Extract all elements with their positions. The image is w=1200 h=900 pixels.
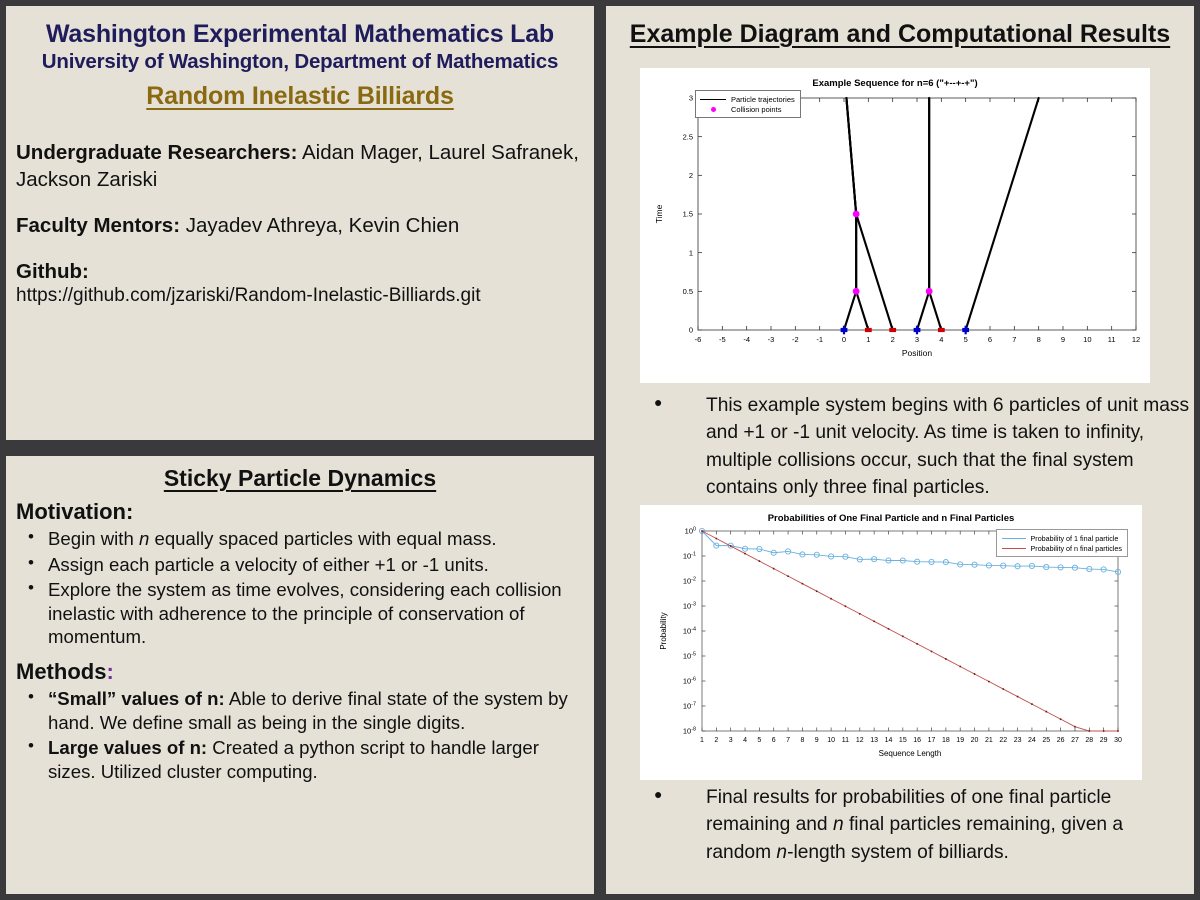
svg-text:10-5: 10-5 [683,651,696,660]
svg-text:1.5: 1.5 [683,210,693,219]
svg-text:2: 2 [689,171,693,180]
svg-text:0: 0 [689,326,693,335]
svg-text:6: 6 [988,335,992,344]
legend-label-n-final-particles: Probability of n final particles [1031,544,1123,553]
svg-text:6: 6 [772,737,776,744]
svg-text:Position: Position [902,348,933,358]
svg-text:10-7: 10-7 [683,701,696,710]
svg-text:4: 4 [939,335,943,344]
svg-text:2: 2 [714,737,718,744]
faculty-mentors-names: Jayadev Athreya, Kevin Chien [180,214,459,237]
svg-text:18: 18 [942,737,950,744]
svg-text:5: 5 [964,335,968,344]
list-item: “Small” values of n: Able to derive fina… [26,687,580,734]
institution-subtitle: University of Washington, Department of … [6,48,594,74]
svg-text:24: 24 [1028,737,1036,744]
svg-text:7: 7 [786,737,790,744]
motivation-colon: : [126,499,133,524]
results-bullet-list-2: Final results for probabilities of one f… [648,784,1193,866]
methods-heading: Methods: [6,649,594,685]
svg-text:17: 17 [928,737,936,744]
undergraduate-researchers-row: Undergraduate Researchers: Aidan Mager, … [16,139,586,193]
svg-text:-4: -4 [743,335,750,344]
methods-bullet-list: “Small” values of n: Able to derive fina… [6,687,594,783]
svg-text:-6: -6 [695,335,702,344]
results-bullet-list-1: This example system begins with 6 partic… [648,392,1193,502]
list-item: Begin with n equally spaced particles wi… [26,527,580,551]
svg-text:11: 11 [842,737,849,744]
svg-text:-5: -5 [719,335,726,344]
svg-text:11: 11 [1108,335,1116,344]
figure-example-sequence: Example Sequence for n=6 ("+--+-+") -6-5… [640,68,1150,383]
svg-text:100: 100 [685,526,696,535]
svg-text:Sequence Length: Sequence Length [879,749,942,758]
svg-text:20: 20 [971,737,979,744]
project-title: Random Inelastic Billiards [6,74,594,111]
svg-text:-3: -3 [768,335,775,344]
svg-text:10-1: 10-1 [683,551,696,560]
legend-entry-one-final-particle: Probability of 1 final particle [1002,533,1123,543]
list-item: Explore the system as time evolves, cons… [26,578,580,649]
svg-text:15: 15 [899,737,907,744]
figure1-legend: Particle trajectories Collision points [695,90,801,118]
svg-text:9: 9 [1061,335,1065,344]
legend-entry-n-final-particles: Probability of n final particles [1002,543,1123,553]
svg-text:1: 1 [866,335,870,344]
list-item: Large values of n: Created a python scri… [26,736,580,783]
section-title-sticky: Sticky Particle Dynamics [6,456,594,492]
svg-text:28: 28 [1085,737,1093,744]
lab-title: Washington Experimental Mathematics Lab [6,6,594,48]
svg-text:12: 12 [1132,335,1140,344]
legend-line-swatch [700,99,726,100]
legend-line-blue-swatch [1002,538,1026,539]
svg-text:3: 3 [729,737,733,744]
svg-text:21: 21 [985,737,993,744]
svg-text:-1: -1 [816,335,823,344]
section-title-results: Example Diagram and Computational Result… [606,6,1194,49]
svg-text:Probability: Probability [659,612,668,649]
svg-text:26: 26 [1057,737,1065,744]
github-url[interactable]: https://github.com/jzariski/Random-Inela… [16,285,586,308]
svg-text:0: 0 [842,335,846,344]
credits-block: Undergraduate Researchers: Aidan Mager, … [6,111,594,308]
header-panel: Washington Experimental Mathematics Lab … [6,6,594,440]
methods-bullet-0-bold: “Small” values of n: [48,688,225,709]
svg-text:1: 1 [700,737,704,744]
legend-dot-swatch [700,105,726,114]
figure-probabilities: Probabilities of One Final Particle and … [640,505,1142,780]
legend-label-collisions: Collision points [731,105,781,114]
svg-text:8: 8 [800,737,804,744]
svg-text:-2: -2 [792,335,799,344]
svg-text:29: 29 [1100,737,1108,744]
svg-text:4: 4 [743,737,747,744]
svg-text:0.5: 0.5 [683,287,693,296]
undergraduate-researchers-label: Undergraduate Researchers: [16,141,297,164]
legend-entry-collisions: Collision points [700,104,795,114]
faculty-mentors-row: Faculty Mentors: Jayadev Athreya, Kevin … [16,212,586,239]
svg-text:30: 30 [1114,737,1122,744]
poster-root: Washington Experimental Mathematics Lab … [0,0,1200,900]
list-item: Final results for probabilities of one f… [648,784,1193,866]
list-item: This example system begins with 6 partic… [648,392,1193,502]
methods-colon: : [106,659,113,684]
svg-text:2: 2 [891,335,895,344]
legend-label-trajectories: Particle trajectories [731,95,795,104]
list-item: Assign each particle a velocity of eithe… [26,553,580,577]
methods-heading-text: Methods [16,659,106,684]
svg-text:22: 22 [999,737,1007,744]
svg-text:10-3: 10-3 [683,601,696,610]
svg-text:27: 27 [1071,737,1079,744]
svg-text:8: 8 [1037,335,1041,344]
figure2-legend: Probability of 1 final particle Probabil… [996,529,1129,557]
svg-text:10-2: 10-2 [683,576,696,585]
svg-text:5: 5 [757,737,761,744]
motivation-heading-text: Motivation [16,499,126,524]
motivation-bullet-list: Begin with n equally spaced particles wi… [6,527,594,649]
github-row: Github: https://github.com/jzariski/Rand… [16,258,586,308]
svg-text:7: 7 [1012,335,1016,344]
legend-line-red-swatch [1002,548,1026,549]
svg-text:10-6: 10-6 [683,676,696,685]
svg-text:3: 3 [915,335,919,344]
svg-text:10: 10 [827,737,835,744]
svg-text:3: 3 [689,94,693,103]
svg-text:2.5: 2.5 [683,132,693,141]
sticky-particle-dynamics-panel: Sticky Particle Dynamics Motivation: Beg… [6,456,594,894]
methods-bullet-1-bold: Large values of n: [48,737,207,758]
svg-text:23: 23 [1014,737,1022,744]
github-label: Github: [16,258,586,285]
svg-text:1: 1 [689,248,693,257]
svg-text:10-4: 10-4 [683,626,696,635]
svg-text:14: 14 [885,737,893,744]
svg-text:10-8: 10-8 [683,726,696,735]
legend-entry-trajectories: Particle trajectories [700,94,795,104]
svg-text:19: 19 [956,737,964,744]
faculty-mentors-label: Faculty Mentors: [16,214,180,237]
svg-text:9: 9 [815,737,819,744]
svg-text:16: 16 [913,737,921,744]
legend-label-one-final-particle: Probability of 1 final particle [1031,534,1119,543]
svg-text:10: 10 [1083,335,1091,344]
svg-text:13: 13 [870,737,878,744]
svg-text:25: 25 [1042,737,1050,744]
svg-text:Time: Time [654,204,664,223]
motivation-heading: Motivation: [6,492,594,525]
svg-text:12: 12 [856,737,864,744]
